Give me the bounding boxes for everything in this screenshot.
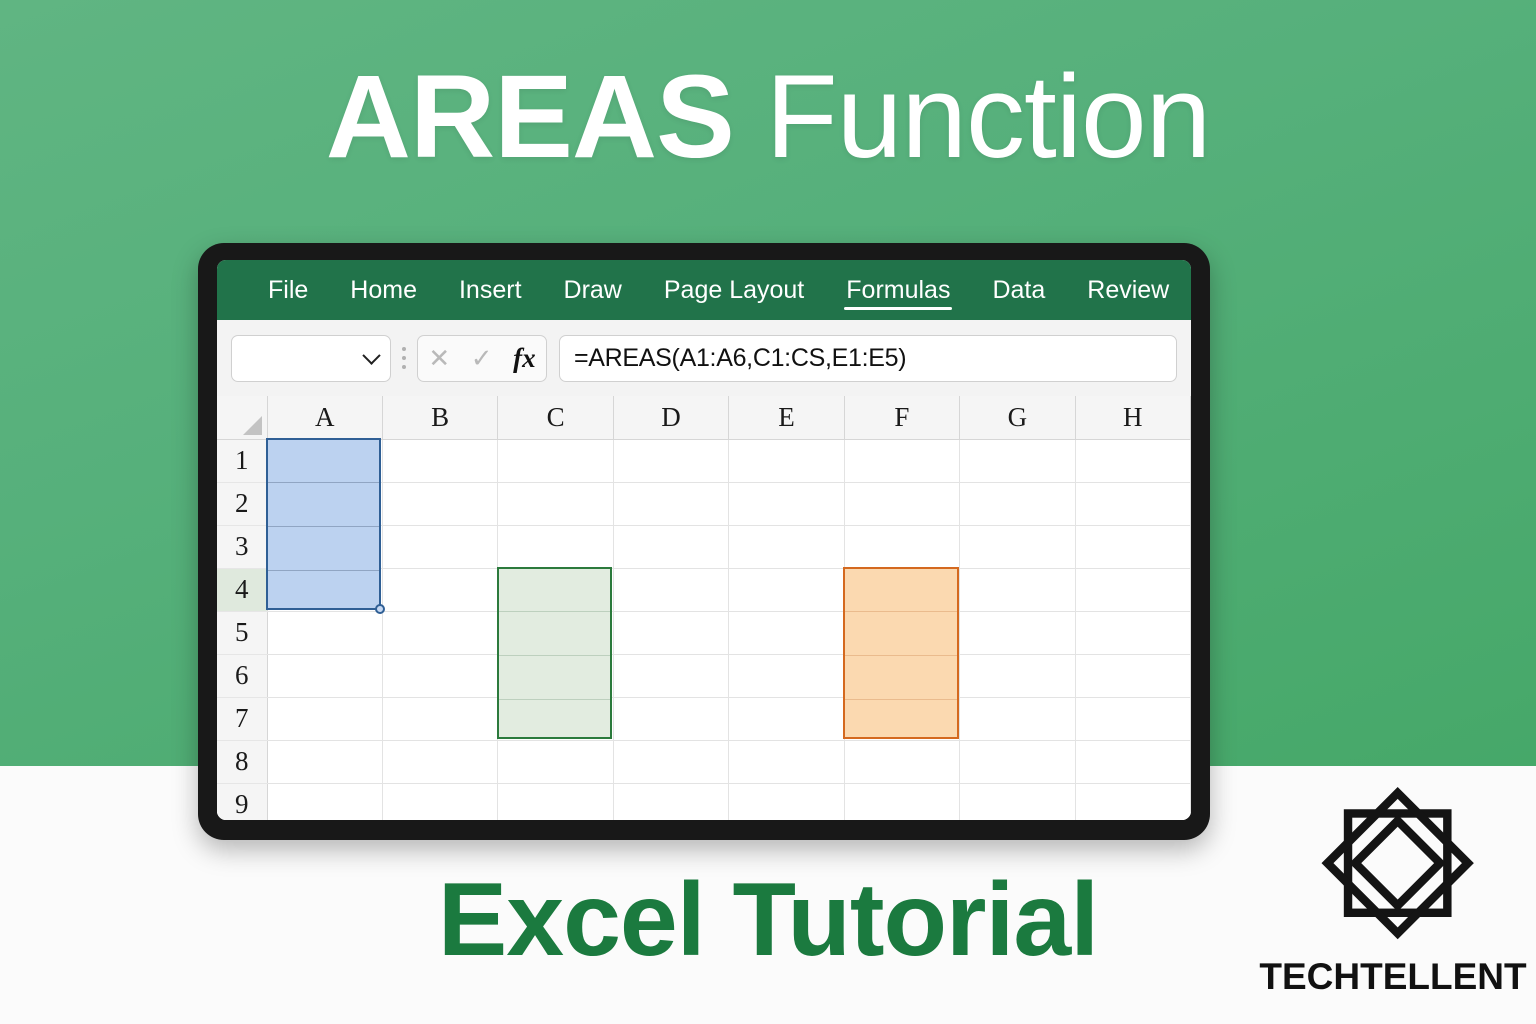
tab-page-layout[interactable]: Page Layout (643, 260, 825, 320)
row-header-3[interactable]: 3 (217, 525, 267, 568)
cell-h2[interactable] (1075, 482, 1190, 525)
row-header-7[interactable]: 7 (217, 697, 267, 740)
cell-c1[interactable] (498, 439, 613, 482)
cell-g8[interactable] (960, 740, 1075, 783)
formula-bar: ✕ ✓ fx =AREAS(A1:A6,C1:CS,E1:E5) (217, 320, 1191, 396)
cell-d8[interactable] (613, 740, 728, 783)
tab-review[interactable]: Review (1066, 260, 1190, 320)
cell-b9[interactable] (382, 783, 497, 820)
grid-row: 2 (217, 482, 1191, 525)
octagram-star-logo-icon (1299, 776, 1487, 954)
column-header-c[interactable]: C (498, 396, 613, 439)
cell-a5[interactable] (267, 611, 382, 654)
cell-c8[interactable] (498, 740, 613, 783)
cell-d4[interactable] (613, 568, 728, 611)
cell-h9[interactable] (1075, 783, 1190, 820)
cell-a6[interactable] (267, 654, 382, 697)
column-header-a[interactable]: A (267, 396, 382, 439)
cell-c5[interactable] (498, 611, 613, 654)
cell-c7[interactable] (498, 697, 613, 740)
tab-draw[interactable]: Draw (543, 260, 643, 320)
cell-g5[interactable] (960, 611, 1075, 654)
cell-f4[interactable] (844, 568, 959, 611)
cell-f5[interactable] (844, 611, 959, 654)
cell-b4[interactable] (382, 568, 497, 611)
cell-d9[interactable] (613, 783, 728, 820)
grid-row: 9 (217, 783, 1191, 820)
cell-h3[interactable] (1075, 525, 1190, 568)
cell-f1[interactable] (844, 439, 959, 482)
tab-home[interactable]: Home (329, 260, 438, 320)
tab-data[interactable]: Data (971, 260, 1066, 320)
cell-e1[interactable] (729, 439, 844, 482)
cell-b5[interactable] (382, 611, 497, 654)
cell-e3[interactable] (729, 525, 844, 568)
formula-bar-buttons: ✕ ✓ fx (417, 335, 547, 382)
cell-d5[interactable] (613, 611, 728, 654)
cell-e2[interactable] (729, 482, 844, 525)
grid-row: 3 (217, 525, 1191, 568)
cell-d7[interactable] (613, 697, 728, 740)
cell-d1[interactable] (613, 439, 728, 482)
cell-b2[interactable] (382, 482, 497, 525)
cell-h7[interactable] (1075, 697, 1190, 740)
tablet-screen: File Home Insert Draw Page Layout Formul… (217, 260, 1191, 820)
grid-row: 4 (217, 568, 1191, 611)
tablet-device-frame: File Home Insert Draw Page Layout Formul… (198, 243, 1210, 840)
formula-bar-drag-dots (391, 335, 417, 382)
tab-formulas[interactable]: Formulas (825, 260, 971, 320)
cell-h6[interactable] (1075, 654, 1190, 697)
column-header-row: A B C D E F G H (217, 396, 1191, 439)
cell-b7[interactable] (382, 697, 497, 740)
cell-e4[interactable] (729, 568, 844, 611)
cell-b8[interactable] (382, 740, 497, 783)
row-header-8[interactable]: 8 (217, 740, 267, 783)
cell-g4[interactable] (960, 568, 1075, 611)
cell-e6[interactable] (729, 654, 844, 697)
row-header-2[interactable]: 2 (217, 482, 267, 525)
grid-row: 8 (217, 740, 1191, 783)
page-title-rest (734, 51, 766, 183)
row-header-5[interactable]: 5 (217, 611, 267, 654)
tab-view[interactable]: View (1190, 260, 1191, 320)
page-title-light: Function (766, 51, 1211, 183)
cell-h5[interactable] (1075, 611, 1190, 654)
cell-a7[interactable] (267, 697, 382, 740)
cell-f3[interactable] (844, 525, 959, 568)
row-header-4[interactable]: 4 (217, 568, 267, 611)
fx-insert-function-icon[interactable]: fx (513, 343, 536, 374)
cell-h8[interactable] (1075, 740, 1190, 783)
row-header-9[interactable]: 9 (217, 783, 267, 820)
cell-d6[interactable] (613, 654, 728, 697)
cell-g1[interactable] (960, 439, 1075, 482)
cell-h1[interactable] (1075, 439, 1190, 482)
cell-g3[interactable] (960, 525, 1075, 568)
formula-input[interactable]: =AREAS(A1:A6,C1:CS,E1:E5) (559, 335, 1177, 382)
brand-logo: TECHTELLENT (1262, 776, 1524, 1008)
grid-row: 1 (217, 439, 1191, 482)
cell-c6[interactable] (498, 654, 613, 697)
grid-table: A B C D E F G H 1 2 (217, 396, 1191, 820)
cell-c4[interactable] (498, 568, 613, 611)
page-title: AREAS Function (0, 58, 1536, 176)
brand-name: TECHTELLENT (1259, 956, 1526, 998)
cell-f6[interactable] (844, 654, 959, 697)
grid-row: 6 (217, 654, 1191, 697)
column-header-e[interactable]: E (729, 396, 844, 439)
cell-f9[interactable] (844, 783, 959, 820)
cell-c9[interactable] (498, 783, 613, 820)
row-header-1[interactable]: 1 (217, 439, 267, 482)
cell-e8[interactable] (729, 740, 844, 783)
cell-a8[interactable] (267, 740, 382, 783)
cell-a2[interactable] (267, 482, 382, 525)
cell-f8[interactable] (844, 740, 959, 783)
grid-row: 7 (217, 697, 1191, 740)
cell-b6[interactable] (382, 654, 497, 697)
cell-c3[interactable] (498, 525, 613, 568)
column-header-b[interactable]: B (382, 396, 497, 439)
cell-h4[interactable] (1075, 568, 1190, 611)
cell-g2[interactable] (960, 482, 1075, 525)
poster-canvas: AREAS Function File Home Insert Draw Pag… (0, 0, 1536, 1024)
grid-row: 5 (217, 611, 1191, 654)
tab-insert[interactable]: Insert (438, 260, 543, 320)
cell-g6[interactable] (960, 654, 1075, 697)
cell-g9[interactable] (960, 783, 1075, 820)
row-header-6[interactable]: 6 (217, 654, 267, 697)
column-header-h[interactable]: H (1075, 396, 1190, 439)
column-header-f[interactable]: F (844, 396, 959, 439)
spreadsheet-grid[interactable]: A B C D E F G H 1 2 (217, 396, 1191, 820)
excel-ribbon-tabs: File Home Insert Draw Page Layout Formul… (217, 260, 1191, 320)
cell-e5[interactable] (729, 611, 844, 654)
cell-a3[interactable] (267, 525, 382, 568)
cell-e7[interactable] (729, 697, 844, 740)
cell-d2[interactable] (613, 482, 728, 525)
tab-file[interactable]: File (247, 260, 329, 320)
cell-b1[interactable] (382, 439, 497, 482)
cell-b3[interactable] (382, 525, 497, 568)
column-header-g[interactable]: G (960, 396, 1075, 439)
cell-c2[interactable] (498, 482, 613, 525)
cell-a9[interactable] (267, 783, 382, 820)
cell-d3[interactable] (613, 525, 728, 568)
cancel-x-icon[interactable]: ✕ (428, 345, 450, 371)
column-header-d[interactable]: D (613, 396, 728, 439)
cell-e9[interactable] (729, 783, 844, 820)
select-all-corner[interactable] (217, 396, 267, 439)
page-title-bold: AREAS (326, 51, 734, 183)
chevron-down-icon[interactable] (362, 346, 380, 364)
cell-g7[interactable] (960, 697, 1075, 740)
name-box[interactable] (231, 335, 391, 382)
confirm-check-icon[interactable]: ✓ (471, 345, 493, 371)
cell-f2[interactable] (844, 482, 959, 525)
cell-a4[interactable] (267, 568, 382, 611)
cell-f7[interactable] (844, 697, 959, 740)
cell-a1[interactable] (267, 439, 382, 482)
